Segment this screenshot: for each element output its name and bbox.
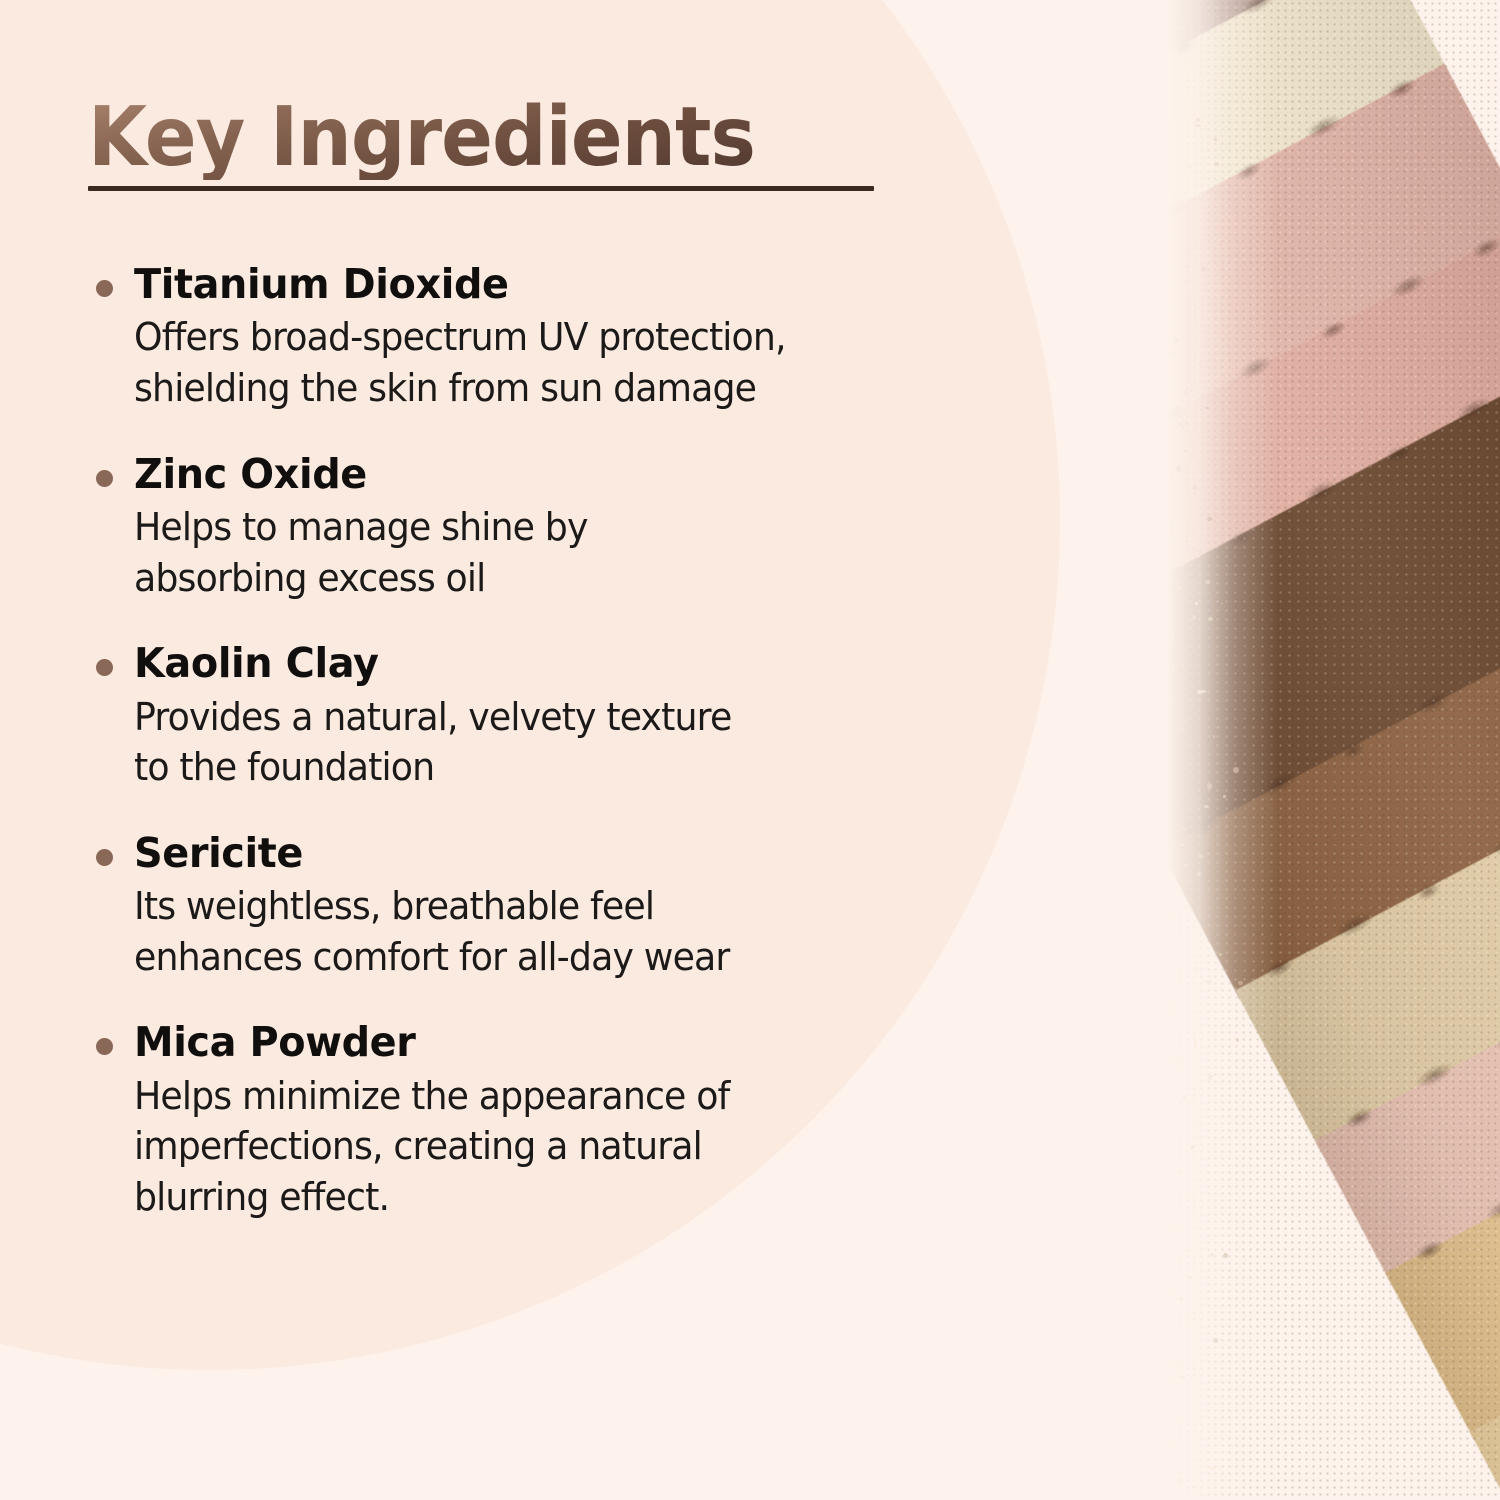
powder-fleck: [1187, 1276, 1192, 1279]
powder-fleck: [1170, 1149, 1174, 1151]
powder-fleck: [1145, 1497, 1147, 1498]
powder-fleck: [1206, 1117, 1209, 1119]
powder-fleck: [1158, 1063, 1161, 1066]
powder-fleck: [1172, 1226, 1177, 1230]
powder-fleck: [1146, 1451, 1149, 1454]
ingredient-description: Offers broad-spectrum UV protection, shi…: [134, 312, 950, 413]
powder-fleck: [1174, 1056, 1179, 1060]
powder-fleck: [1157, 1372, 1163, 1377]
powder-fleck: [1206, 980, 1212, 983]
powder-fleck: [1212, 1279, 1215, 1280]
ingredient-description: Helps to manage shine by absorbing exces…: [134, 502, 950, 603]
powder-fleck: [1134, 1165, 1138, 1167]
powder-fleck: [1162, 1080, 1168, 1083]
list-item: Sericite Its weightless, breathable feel…: [88, 827, 988, 983]
bullet-dot-icon: [96, 849, 113, 866]
powder-fleck: [1135, 1247, 1141, 1252]
ingredient-description: Provides a natural, velvety texture to t…: [134, 692, 950, 793]
powder-fleck: [1185, 1316, 1191, 1323]
powder-fleck: [1167, 1272, 1171, 1274]
powder-fleck: [1165, 1480, 1169, 1484]
powder-fleck: [1137, 1126, 1143, 1131]
powder-fleck: [1179, 1297, 1183, 1301]
powder-fleck: [1137, 821, 1142, 825]
powder-fleck: [1150, 1215, 1155, 1221]
powder-fleck: [1135, 1090, 1136, 1091]
bullet-dot-icon: [96, 470, 113, 487]
powder-fleck: [1138, 1282, 1140, 1284]
powder-fleck: [1193, 1040, 1198, 1046]
powder-fleck: [1141, 1140, 1145, 1143]
powder-fleck: [1148, 1431, 1151, 1434]
powder-fleck: [1201, 1201, 1202, 1202]
powder-fleck: [1145, 1392, 1150, 1397]
title-underline: [88, 186, 874, 191]
powder-fleck: [1236, 1038, 1240, 1042]
powder-fleck: [1135, 873, 1136, 874]
powder-fleck: [1160, 1284, 1165, 1289]
powder-fleck: [1138, 1108, 1142, 1111]
powder-fleck: [1173, 1445, 1177, 1449]
powder-fleck: [1145, 1282, 1148, 1285]
powder-fleck: [1161, 1227, 1162, 1228]
powder-fleck: [1177, 1478, 1183, 1484]
powder-fleck: [1156, 878, 1157, 879]
powder-fleck: [1192, 1486, 1194, 1488]
powder-fleck: [1143, 851, 1148, 856]
powder-fleck: [1140, 1095, 1142, 1097]
powder-fleck: [1178, 1059, 1182, 1062]
powder-fleck: [1135, 991, 1137, 993]
powder-fleck: [1188, 1331, 1189, 1332]
powder-fleck: [1140, 893, 1145, 896]
powder-fleck: [1210, 1467, 1215, 1470]
powder-fleck: [1143, 1325, 1148, 1329]
powder-fleck: [1179, 1416, 1185, 1419]
powder-fleck: [1149, 1416, 1153, 1420]
powder-fleck: [1197, 1136, 1201, 1138]
powder-fleck: [1179, 1171, 1182, 1174]
powder-fleck: [1141, 1025, 1146, 1030]
bullet-dot-icon: [96, 280, 113, 297]
powder-fleck: [1158, 892, 1160, 894]
powder-fleck: [1140, 1025, 1145, 1029]
powder-fleck: [1135, 1084, 1140, 1087]
powder-fleck: [1167, 1102, 1171, 1106]
powder-fleck: [1144, 1459, 1146, 1462]
powder-swatch-photo: [1128, 0, 1500, 1500]
powder-fleck: [1159, 1430, 1160, 1431]
powder-fleck: [1177, 1204, 1180, 1205]
ingredient-name: Kaolin Clay: [134, 637, 962, 689]
powder-fleck: [1137, 917, 1141, 921]
powder-fleck: [1151, 1296, 1153, 1297]
powder-fleck: [1146, 876, 1148, 878]
powder-fleck: [1139, 1092, 1144, 1096]
powder-fleck: [1137, 908, 1141, 910]
powder-fleck: [1145, 1196, 1150, 1200]
ingredient-name: Titanium Dioxide: [134, 258, 962, 310]
powder-fleck: [1135, 978, 1141, 983]
powder-fleck: [1135, 1295, 1139, 1299]
powder-fleck: [1144, 1292, 1150, 1299]
powder-fleck: [1174, 1363, 1179, 1368]
powder-fleck: [1175, 1067, 1178, 1070]
powder-fleck: [1149, 1320, 1154, 1324]
powder-fleck: [1134, 1319, 1136, 1321]
powder-fleck: [1173, 1003, 1174, 1004]
powder-fleck: [1153, 1495, 1154, 1497]
powder-fleck: [1161, 1398, 1163, 1400]
powder-fleck: [1145, 1107, 1147, 1108]
powder-fleck: [1211, 1075, 1213, 1077]
powder-fleck: [1144, 1072, 1148, 1076]
powder-fleck: [1208, 1075, 1213, 1080]
powder-fleck: [1145, 1474, 1146, 1475]
powder-fleck: [1143, 1265, 1148, 1270]
powder-fleck: [1223, 1253, 1228, 1258]
powder-fleck: [1164, 1466, 1167, 1468]
powder-fleck: [1147, 895, 1153, 899]
ingredient-list: Titanium Dioxide Offers broad-spectrum U…: [88, 258, 988, 1222]
powder-fleck: [1170, 1290, 1174, 1292]
ingredient-description: Helps minimize the appearance of imperfe…: [134, 1071, 950, 1223]
powder-fleck: [1146, 1279, 1151, 1282]
key-ingredients-infographic: Key Ingredients Titanium Dioxide Offers …: [0, 0, 1500, 1500]
powder-fleck: [1179, 1363, 1185, 1370]
powder-fleck: [1159, 1168, 1163, 1172]
powder-fleck: [1153, 1496, 1157, 1499]
powder-fleck: [1141, 1335, 1146, 1339]
powder-fleck: [1180, 1376, 1185, 1380]
title-block: Key Ingredients: [88, 96, 888, 191]
powder-fleck: [1141, 934, 1143, 936]
powder-fleck: [1136, 847, 1140, 851]
powder-fleck: [1163, 1360, 1165, 1361]
powder-fleck: [1156, 1354, 1160, 1358]
powder-fleck: [1192, 1126, 1195, 1128]
ingredient-description: Its weightless, breathable feel enhances…: [134, 881, 950, 982]
powder-fleck: [1165, 1247, 1169, 1251]
list-item: Kaolin Clay Provides a natural, velvety …: [88, 637, 988, 793]
powder-fleck: [1134, 1491, 1137, 1494]
powder-fleck: [1211, 1051, 1215, 1053]
powder-fleck: [1153, 1109, 1156, 1111]
powder-fleck: [1135, 1249, 1138, 1253]
powder-fleck: [1149, 902, 1154, 908]
powder-fleck: [1154, 1201, 1157, 1203]
powder-fleck: [1158, 1476, 1159, 1477]
powder-fleck: [1149, 1210, 1154, 1215]
list-item: Titanium Dioxide Offers broad-spectrum U…: [88, 258, 988, 414]
powder-fleck: [1135, 1477, 1138, 1480]
powder-fleck: [1213, 1338, 1218, 1342]
powder-fleck: [1179, 1260, 1183, 1263]
ingredient-name: Zinc Oxide: [134, 448, 962, 500]
powder-fleck: [1152, 1076, 1157, 1080]
powder-fleck: [1146, 1247, 1149, 1250]
powder-fleck: [1150, 1294, 1156, 1299]
list-item: Zinc Oxide Helps to manage shine by abso…: [88, 448, 988, 604]
powder-fleck: [1153, 1439, 1155, 1441]
powder-fleck: [1135, 1250, 1138, 1252]
powder-fleck: [1163, 1312, 1167, 1314]
powder-fleck: [1164, 1472, 1168, 1477]
powder-fleck: [1135, 1201, 1139, 1205]
powder-fleck: [1182, 1095, 1187, 1099]
powder-fleck: [1135, 883, 1140, 887]
page-title: Key Ingredients: [88, 96, 832, 180]
powder-fleck: [1139, 1099, 1144, 1103]
powder-fleck: [1135, 917, 1136, 918]
powder-fleck: [1135, 1088, 1140, 1092]
powder-fleck: [1134, 1139, 1137, 1142]
powder-fleck: [1152, 1329, 1154, 1331]
powder-fleck: [1149, 1096, 1153, 1100]
powder-fleck: [1136, 1053, 1141, 1058]
powder-fleck: [1188, 1250, 1191, 1251]
powder-fleck: [1164, 1051, 1166, 1053]
powder-fleck: [1160, 1102, 1163, 1104]
bullet-dot-icon: [96, 659, 113, 676]
powder-fleck: [1140, 1473, 1146, 1477]
powder-fleck: [1141, 1284, 1146, 1289]
powder-fleck: [1178, 975, 1182, 978]
powder-fleck: [1182, 1374, 1185, 1376]
list-item: Mica Powder Helps minimize the appearanc…: [88, 1016, 988, 1222]
powder-fleck: [1190, 1145, 1195, 1149]
powder-fleck: [1168, 1282, 1171, 1284]
powder-fleck: [1171, 1381, 1176, 1386]
powder-fleck: [1149, 1140, 1153, 1143]
bullet-dot-icon: [96, 1038, 113, 1055]
powder-fleck: [1149, 1098, 1154, 1103]
powder-fleck: [1155, 1085, 1161, 1089]
ingredient-name: Sericite: [134, 827, 962, 879]
powder-fleck: [1135, 1273, 1139, 1277]
powder-fleck: [1135, 1444, 1138, 1447]
powder-fleck: [1184, 1194, 1187, 1198]
powder-fleck: [1188, 1277, 1192, 1280]
powder-fleck: [1182, 1292, 1185, 1295]
powder-fleck: [1169, 1358, 1173, 1362]
powder-fleck: [1151, 1472, 1154, 1476]
ingredient-name: Mica Powder: [134, 1016, 962, 1068]
powder-fleck: [1138, 1362, 1141, 1364]
powder-fleck: [1176, 946, 1178, 947]
powder-fleck: [1138, 1312, 1142, 1316]
powder-fleck: [1134, 1297, 1138, 1299]
powder-fleck: [1136, 1197, 1138, 1198]
powder-fleck: [1155, 1152, 1158, 1154]
powder-fleck: [1210, 1253, 1214, 1257]
powder-fleck: [1150, 1332, 1155, 1338]
powder-fleck: [1137, 988, 1141, 990]
powder-fleck: [1136, 902, 1139, 905]
powder-fleck: [1134, 830, 1137, 832]
powder-fleck: [1170, 1007, 1174, 1011]
powder-fleck: [1169, 1369, 1174, 1373]
powder-fleck: [1163, 1296, 1165, 1298]
powder-fleck: [1147, 960, 1152, 966]
powder-fleck: [1143, 1254, 1148, 1260]
powder-fleck: [1178, 1223, 1183, 1228]
powder-fleck: [1197, 1124, 1202, 1128]
powder-fleck: [1158, 1061, 1163, 1065]
powder-bands-container: [1128, 0, 1500, 1500]
powder-fleck: [1223, 1333, 1224, 1334]
powder-fleck: [1144, 1113, 1149, 1117]
powder-fleck: [1169, 1111, 1173, 1115]
powder-fleck: [1169, 913, 1173, 915]
powder-fleck: [1195, 967, 1197, 968]
powder-fleck: [1137, 951, 1140, 953]
powder-fleck: [1153, 1314, 1157, 1318]
